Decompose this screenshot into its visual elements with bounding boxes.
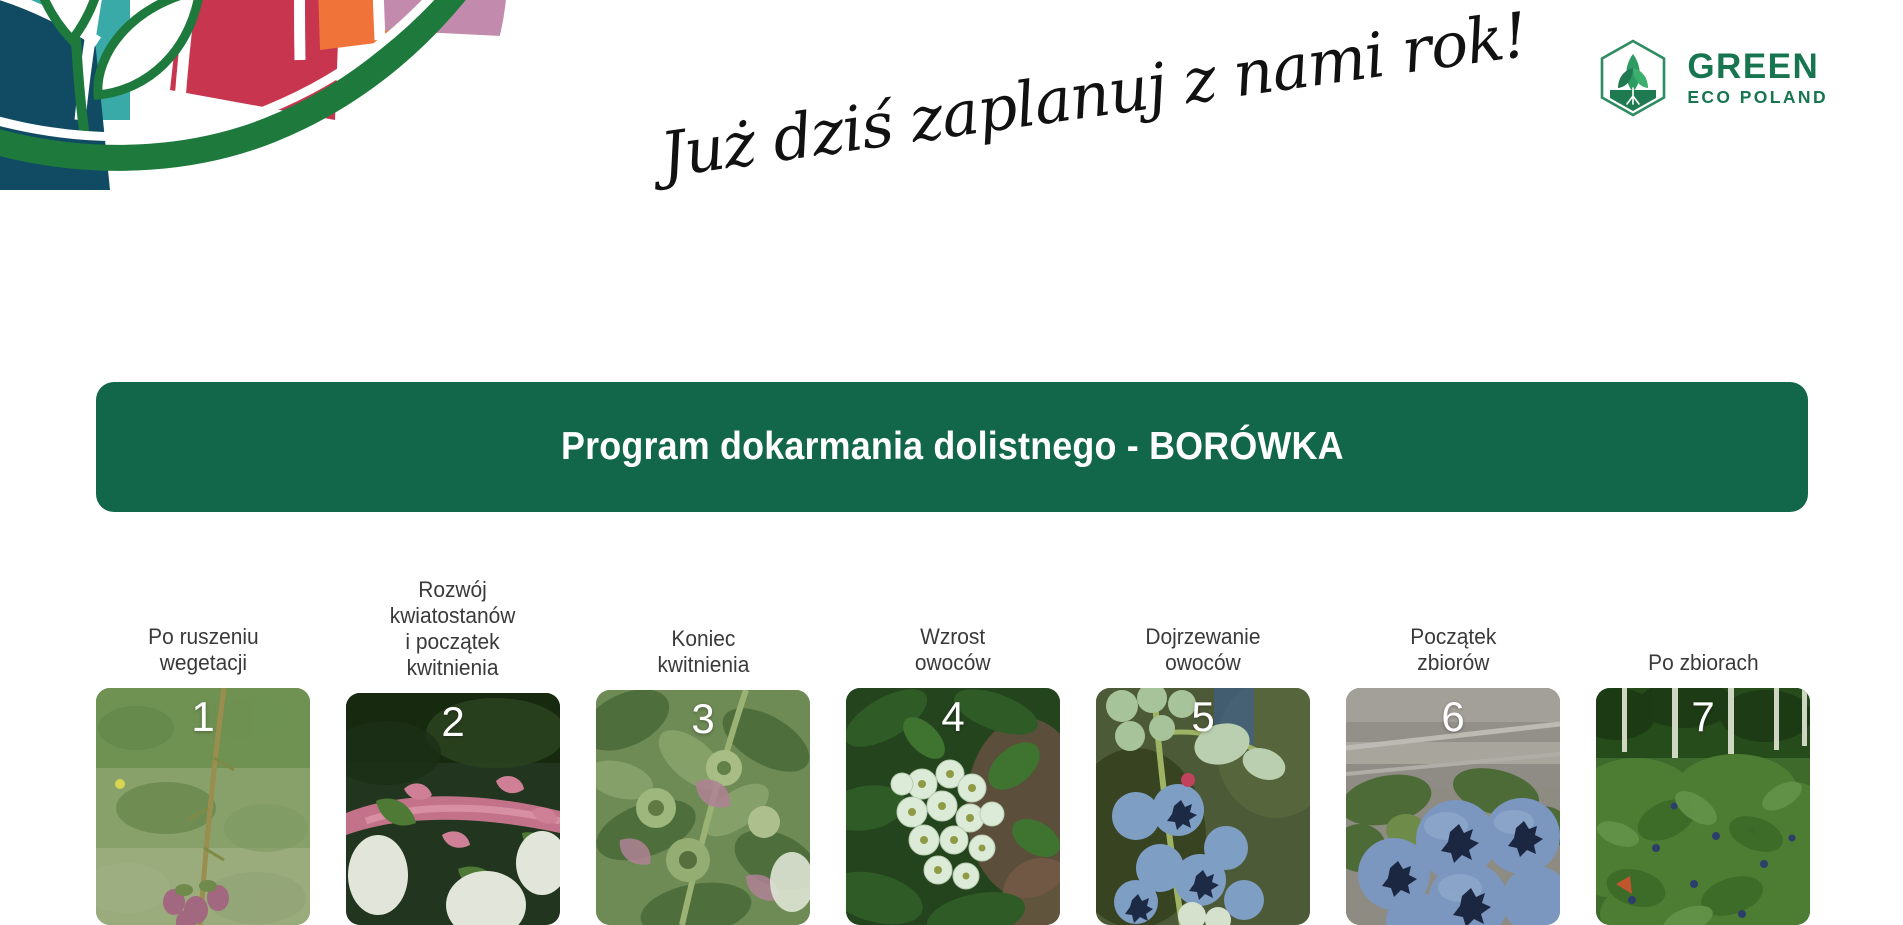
tagline-text: Już dziś zaplanuj z nami rok!: [645, 0, 1531, 193]
pink-flower-buds-closeup-photo: [346, 693, 560, 925]
stage-label: Rozwój kwiatostanów i początek kwitnieni…: [390, 577, 516, 681]
stage-item-7[interactable]: Po zbiorach: [1596, 520, 1810, 925]
stage-photo-card[interactable]: 2: [346, 693, 560, 925]
stage-item-1[interactable]: Po ruszeniu wegetacji: [96, 520, 310, 925]
stage-photo-card[interactable]: 3: [596, 690, 810, 925]
blueberry-shoot-with-buds-photo: [96, 688, 310, 925]
stage-photo-card[interactable]: 5: [1096, 688, 1310, 925]
stage-label: Dojrzewanie owoców: [1145, 624, 1260, 676]
brand-logo: GREEN ECO POLAND: [1597, 38, 1828, 118]
growth-stages-row: Po ruszeniu wegetacji: [96, 520, 1808, 925]
stage-label: Początek zbiorów: [1410, 624, 1496, 676]
page-title: Program dokarmania dolistnego - BORÓWKA: [561, 425, 1344, 469]
brand-name: GREEN: [1687, 49, 1828, 84]
ripe-blueberries-closeup-photo: [1346, 688, 1560, 925]
stage-photo-card[interactable]: 6: [1346, 688, 1560, 925]
stage-label: Po zbiorach: [1648, 650, 1759, 676]
stage-photo-card[interactable]: 4: [846, 688, 1060, 925]
stage-photo-card[interactable]: 1: [96, 688, 310, 925]
stage-item-6[interactable]: Początek zbiorów: [1346, 520, 1560, 925]
stage-item-4[interactable]: Wzrost owoców: [846, 520, 1060, 925]
handwritten-tagline: Już dziś zaplanuj z nami rok!: [660, 95, 1220, 205]
stage-item-3[interactable]: Koniec kwitnienia: [596, 520, 810, 925]
hexagon-leaf-icon: [1597, 38, 1669, 118]
colorful-leaf-swoosh-graphic: [0, 0, 570, 290]
brand-subtitle: ECO POLAND: [1687, 89, 1828, 107]
stage-item-2[interactable]: Rozwój kwiatostanów i początek kwitnieni…: [346, 520, 560, 925]
stage-label: Po ruszeniu wegetacji: [148, 624, 259, 676]
green-fruit-set-leaves-photo: [596, 690, 810, 925]
page-header: Już dziś zaplanuj z nami rok! GREEN ECO …: [0, 0, 1903, 300]
stage-label: Wzrost owoców: [915, 624, 991, 676]
stage-photo-card[interactable]: 7: [1596, 688, 1810, 925]
green-berry-cluster-photo: [846, 688, 1060, 925]
stage-item-5[interactable]: Dojrzewanie owoców: [1096, 520, 1310, 925]
stage-label: Koniec kwitnienia: [657, 626, 749, 678]
program-banner: Program dokarmania dolistnego - BORÓWKA: [96, 382, 1808, 512]
ripening-blue-berries-photo: [1096, 688, 1310, 925]
blueberry-field-bushes-photo: [1596, 688, 1810, 925]
